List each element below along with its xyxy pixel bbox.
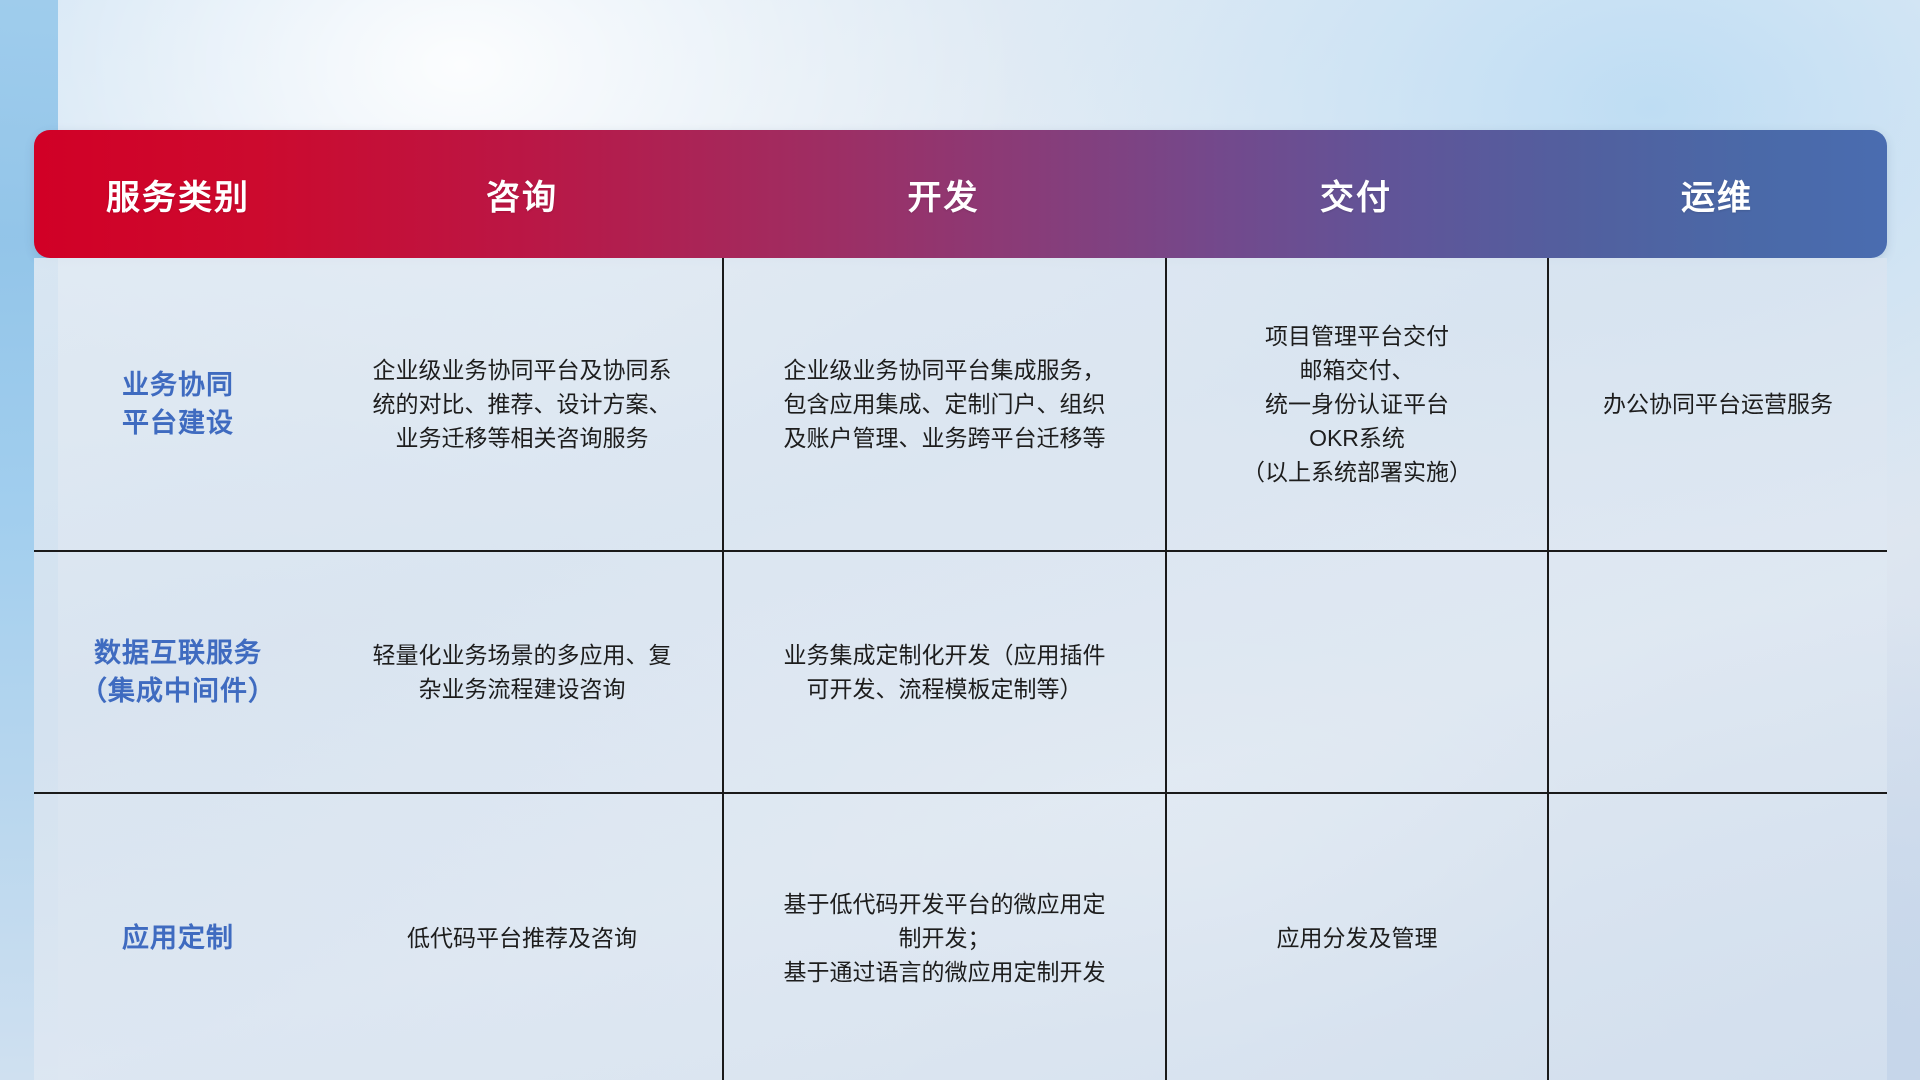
cell-row3-operations <box>1547 794 1887 1080</box>
table-header-delivery: 交付 <box>1165 130 1547 258</box>
table-row: 应用定制 低代码平台推荐及咨询 基于低代码开发平台的微应用定 制开发； 基于通过… <box>34 792 1887 1080</box>
table-row: 数据互联服务 （集成中间件） 轻量化业务场景的多应用、复 杂业务流程建设咨询 业… <box>34 550 1887 792</box>
row-label-data-interconnect-service: 数据互联服务 （集成中间件） <box>34 552 322 792</box>
table-header-development: 开发 <box>722 130 1165 258</box>
cell-row2-delivery <box>1165 552 1547 792</box>
cell-row2-development: 业务集成定制化开发（应用插件 可开发、流程模板定制等） <box>722 552 1165 792</box>
row-label-business-collaboration-platform: 业务协同 平台建设 <box>34 258 322 550</box>
cell-row2-consulting: 轻量化业务场景的多应用、复 杂业务流程建设咨询 <box>322 552 722 792</box>
table-header-operations: 运维 <box>1547 130 1887 258</box>
cell-row1-operations: 办公协同平台运营服务 <box>1547 258 1887 550</box>
cell-row1-consulting: 企业级业务协同平台及协同系 统的对比、推荐、设计方案、 业务迁移等相关咨询服务 <box>322 258 722 550</box>
table-header-consulting: 咨询 <box>322 130 722 258</box>
cell-row3-development: 基于低代码开发平台的微应用定 制开发； 基于通过语言的微应用定制开发 <box>722 794 1165 1080</box>
table-body: 业务协同 平台建设 企业级业务协同平台及协同系 统的对比、推荐、设计方案、 业务… <box>34 258 1887 1080</box>
table-row: 业务协同 平台建设 企业级业务协同平台及协同系 统的对比、推荐、设计方案、 业务… <box>34 258 1887 550</box>
table-header-service-category: 服务类别 <box>34 130 322 258</box>
cell-row1-delivery: 项目管理平台交付 邮箱交付、 统一身份认证平台 OKR系统 （以上系统部署实施） <box>1165 258 1547 550</box>
cell-row2-operations <box>1547 552 1887 792</box>
cell-row3-delivery: 应用分发及管理 <box>1165 794 1547 1080</box>
cell-row1-development: 企业级业务协同平台集成服务， 包含应用集成、定制门户、组织 及账户管理、业务跨平… <box>722 258 1165 550</box>
cell-row3-consulting: 低代码平台推荐及咨询 <box>322 794 722 1080</box>
table-header-row: 服务类别 咨询 开发 交付 运维 <box>34 130 1887 258</box>
service-category-table: 服务类别 咨询 开发 交付 运维 业务协同 平台建设 企业级业务协同平台及协同系… <box>34 130 1887 950</box>
page-background: 服务类别 咨询 开发 交付 运维 业务协同 平台建设 企业级业务协同平台及协同系… <box>0 0 1920 1080</box>
row-label-application-customization: 应用定制 <box>34 794 322 1080</box>
